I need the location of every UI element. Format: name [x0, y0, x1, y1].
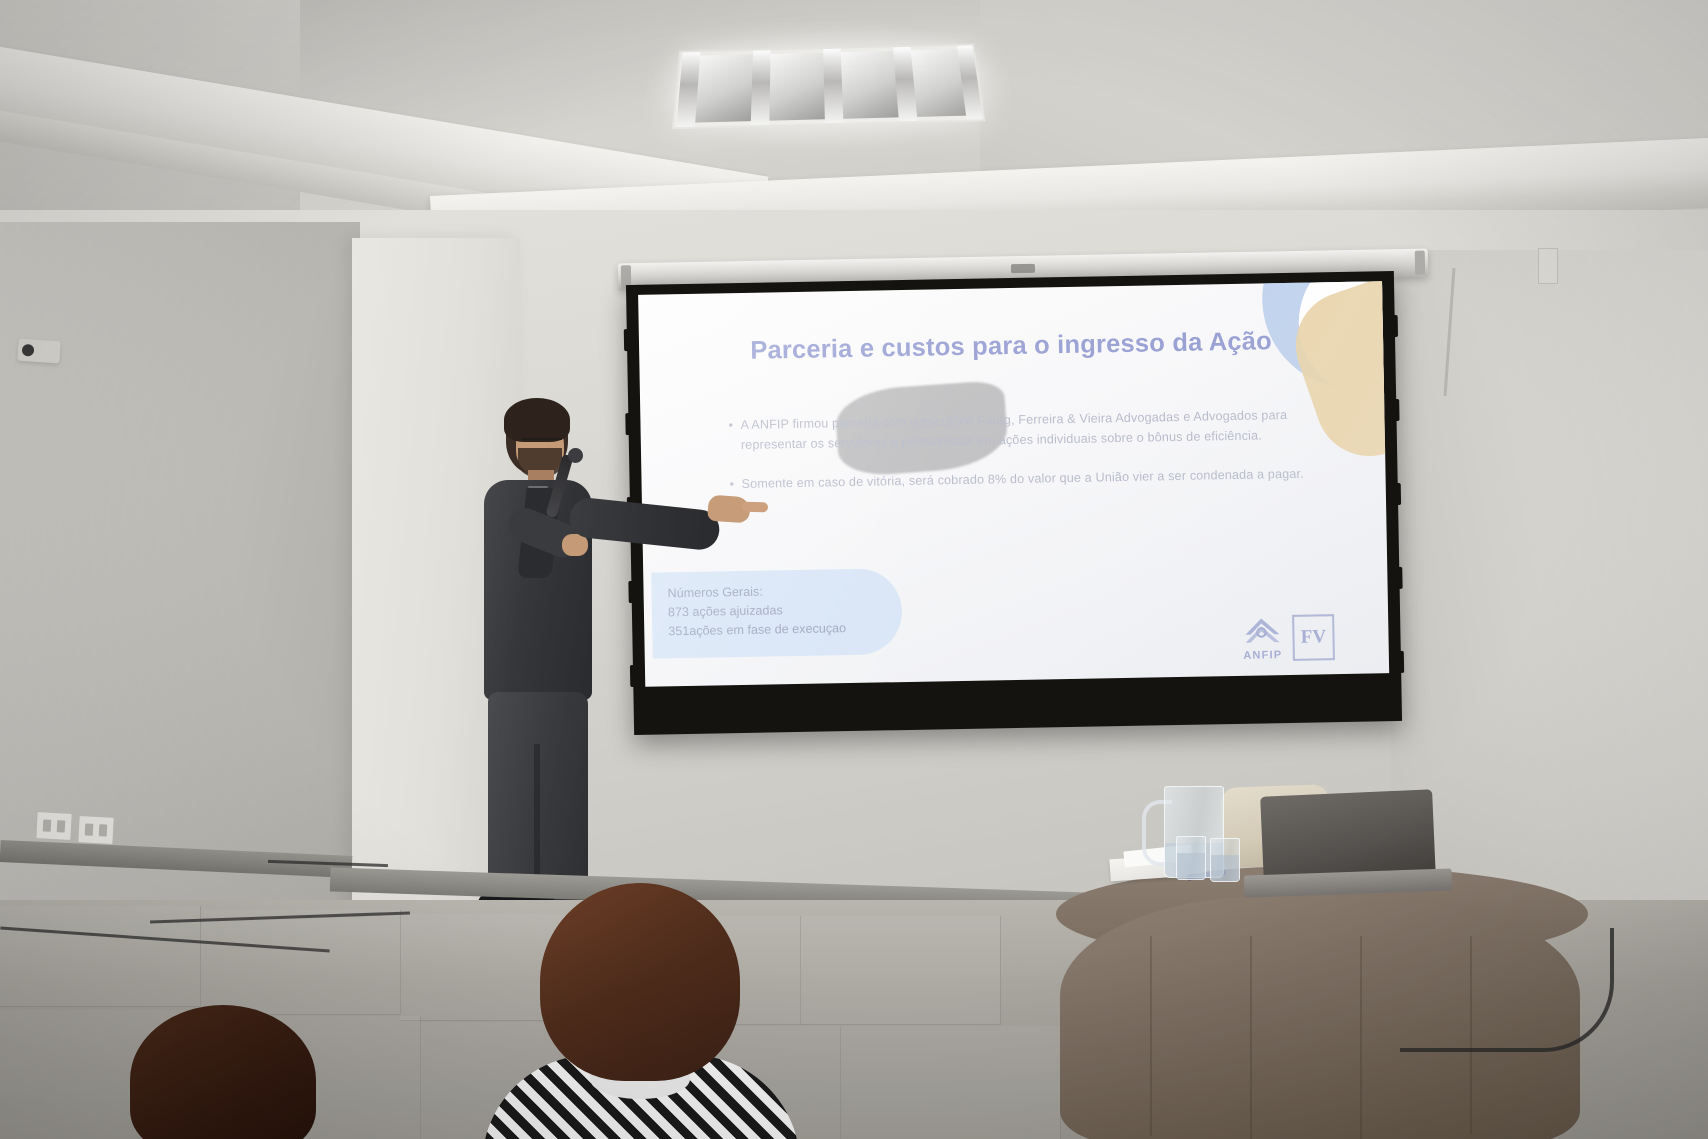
slide-bullet-list: • A ANFIP firmou parceria com o escritór…	[728, 405, 1310, 513]
bullet-text: A ANFIP firmou parceria com o escritório…	[740, 405, 1309, 456]
presentation-scene: Parceria e custos para o ingresso da Açã…	[0, 0, 1708, 1139]
audience-member-left	[130, 1005, 330, 1139]
wall-outlet-left	[35, 811, 72, 841]
presenter	[470, 392, 770, 932]
anfip-mark-icon	[1242, 612, 1283, 645]
presenter-hair	[504, 398, 570, 442]
drinking-glass	[1210, 838, 1240, 882]
audience-hair	[130, 1005, 316, 1139]
ceiling-light-icon	[672, 44, 985, 130]
wall-junction-box	[1538, 248, 1558, 284]
microphone-head-icon	[568, 448, 583, 463]
audience-member-front	[540, 883, 776, 1139]
pointing-finger	[742, 502, 768, 513]
power-cable	[1400, 928, 1614, 1052]
wall-outlet-right	[77, 815, 114, 845]
bullet-text: Somente em caso de vitória, será cobrado…	[741, 463, 1309, 494]
glasses-icon	[522, 438, 562, 450]
anfip-logo: ANFIP	[1242, 612, 1283, 662]
drinking-glass	[1176, 836, 1206, 880]
presenter-leg-divider	[534, 744, 540, 894]
right-wall	[1390, 250, 1708, 910]
fv-logo: FV	[1292, 614, 1335, 661]
audience-hair	[540, 883, 740, 1081]
slide-logo-group: ANFIP FV	[1242, 611, 1335, 662]
roller-knob-icon	[1011, 264, 1035, 273]
list-item: • A ANFIP firmou parceria com o escritór…	[728, 405, 1309, 456]
anfip-logo-text: ANFIP	[1243, 649, 1283, 662]
left-wall	[0, 222, 360, 912]
motion-sensor-icon	[17, 339, 60, 364]
list-item: • Somente em caso de vitória, será cobra…	[729, 463, 1309, 494]
slide-title: Parceria e custos para o ingresso da Açã…	[639, 325, 1383, 368]
